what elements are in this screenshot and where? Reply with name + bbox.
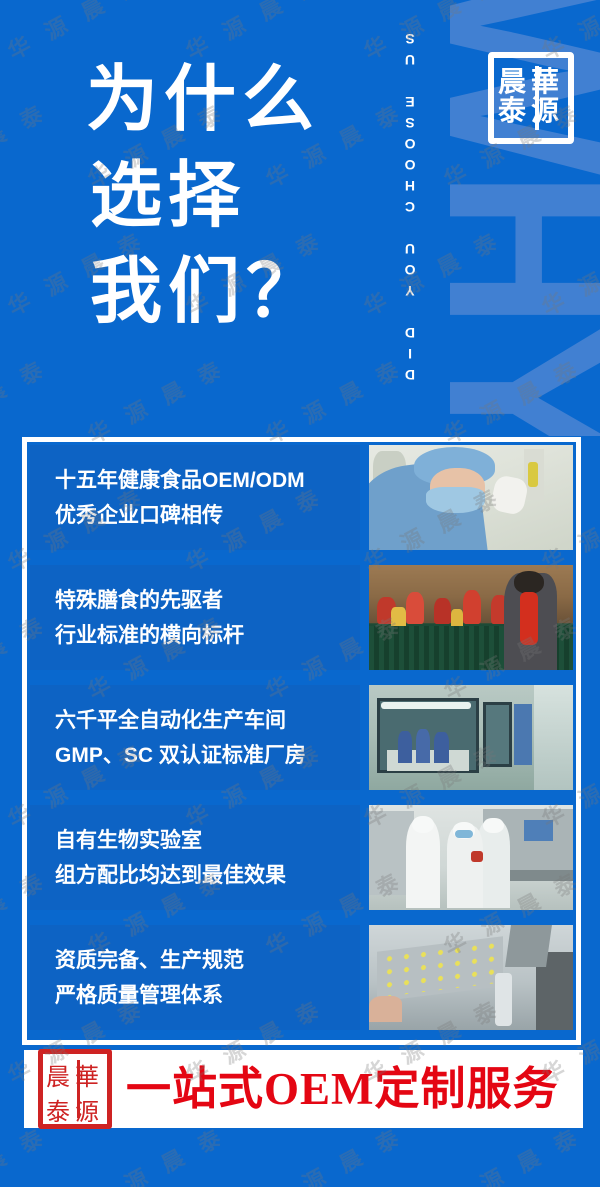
- feature-card-text: 资质完备、生产规范 严格质量管理体系: [30, 925, 360, 1030]
- feature-card-list: 十五年健康食品OEM/ODM 优秀企业口碑相传 特殊膳食的先驱者 行业标准的横向…: [30, 445, 573, 1030]
- feature-card[interactable]: 资质完备、生产规范 严格质量管理体系: [30, 925, 573, 1030]
- watermark-text: 华 源 晨 泰: [0, 94, 54, 194]
- cleanroom-corridor-photo: [369, 685, 573, 790]
- feature-card-line-1: 特殊膳食的先驱者: [55, 583, 360, 618]
- headline-line-2: 选择: [86, 148, 416, 244]
- feature-card-line-1: 资质完备、生产规范: [55, 943, 360, 978]
- feature-card-line-1: 自有生物实验室: [55, 823, 360, 858]
- feature-card-line-2: GMP、SC 双认证标准厂房: [55, 738, 360, 773]
- feature-card-line-1: 十五年健康食品OEM/ODM: [55, 463, 360, 498]
- poster-root: WHY 为什么 选择 我们？ DID YOU CHOOSE US 晨泰 華源 十…: [0, 0, 600, 1187]
- watermark-text: 华 源 晨 泰: [81, 350, 232, 450]
- feature-card-line-2: 行业标准的横向标杆: [55, 618, 360, 653]
- lab-technician-photo: [369, 445, 573, 550]
- vertical-caption: DID YOU CHOOSE US: [402, 20, 428, 390]
- watermark-text: 华 源 晨 泰: [0, 350, 54, 450]
- feature-card[interactable]: 六千平全自动化生产车间 GMP、SC 双认证标准厂房: [30, 685, 573, 790]
- feature-card-line-1: 六千平全自动化生产车间: [55, 703, 360, 738]
- watermark-text: 华 源 晨 泰: [259, 1118, 410, 1187]
- footer-seal-column-right: 華源: [75, 1057, 104, 1121]
- feature-card-text: 十五年健康食品OEM/ODM 优秀企业口碑相传: [30, 445, 360, 550]
- watermark-text: 华 源 晨 泰: [535, 222, 600, 322]
- headline-line-1: 为什么: [86, 52, 416, 148]
- watermark-text: 华 源 晨 泰: [259, 350, 410, 450]
- watermark-text: 华 源 晨 泰: [437, 1118, 588, 1187]
- feature-card-line-2: 组方配比均达到最佳效果: [55, 858, 360, 893]
- seal-column-left: 晨泰: [498, 62, 531, 134]
- page-title: 为什么 选择 我们？: [86, 52, 416, 340]
- feature-card-line-2: 严格质量管理体系: [55, 978, 360, 1013]
- footer-slogan: 一站式OEM定制服务: [126, 1067, 559, 1112]
- workers-lab-photo: [369, 805, 573, 910]
- feature-card[interactable]: 特殊膳食的先驱者 行业标准的横向标杆: [30, 565, 573, 670]
- feature-card-text: 六千平全自动化生产车间 GMP、SC 双认证标准厂房: [30, 685, 360, 790]
- footer-seal-column-left: 晨泰: [46, 1057, 75, 1121]
- headline-line-3: 我们？: [86, 244, 416, 340]
- feature-card-line-2: 优秀企业口碑相传: [55, 498, 360, 533]
- feature-card-text: 特殊膳食的先驱者 行业标准的横向标杆: [30, 565, 360, 670]
- feature-card[interactable]: 自有生物实验室 组方配比均达到最佳效果: [30, 805, 573, 910]
- company-seal: 晨泰 華源: [488, 52, 574, 144]
- conference-audience-photo: [369, 565, 573, 670]
- blister-packing-photo: [369, 925, 573, 1030]
- seal-column-right: 華源: [531, 62, 564, 134]
- footer-banner[interactable]: 晨泰 華源 一站式OEM定制服务: [24, 1050, 583, 1128]
- feature-card[interactable]: 十五年健康食品OEM/ODM 优秀企业口碑相传: [30, 445, 573, 550]
- company-seal-red: 晨泰 華源: [38, 1049, 112, 1129]
- feature-card-text: 自有生物实验室 组方配比均达到最佳效果: [30, 805, 360, 910]
- watermark-text: 华 源 晨 泰: [437, 350, 588, 450]
